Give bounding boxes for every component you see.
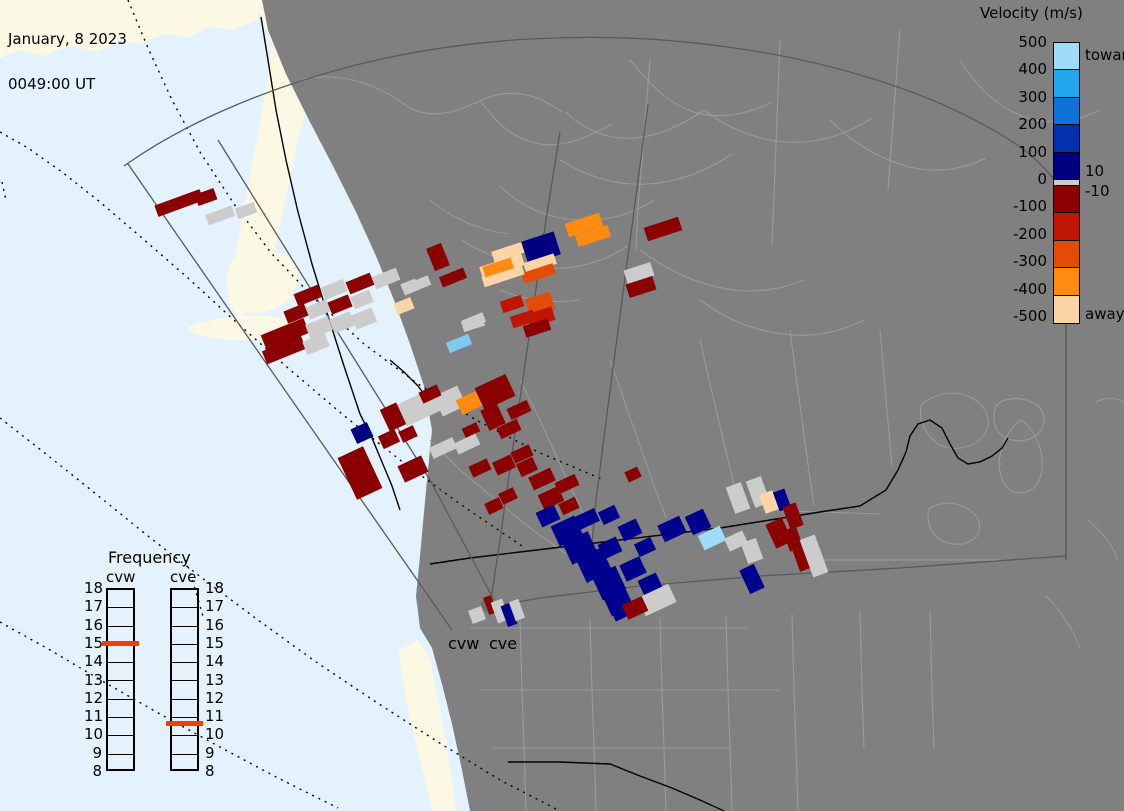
frequency-cell xyxy=(108,700,133,718)
frequency-tick-9: 9 xyxy=(84,746,102,761)
colorbar-band-10 xyxy=(1054,296,1079,323)
velocity-cell xyxy=(393,297,414,315)
frequency-cell xyxy=(108,663,133,681)
colorbar-tick-500: 500 xyxy=(1018,35,1047,50)
frequency-tick-14: 14 xyxy=(205,654,224,669)
frequency-scale-cvw xyxy=(106,588,135,771)
colorbar-tick--100: -100 xyxy=(1013,199,1047,214)
frequency-tick-8: 8 xyxy=(205,764,215,779)
velocity-cell xyxy=(685,509,712,536)
velocity-cell xyxy=(598,505,620,525)
velocity-cell xyxy=(378,429,400,449)
colorbar-tick-100: 100 xyxy=(1018,145,1047,160)
velocity-cell xyxy=(397,455,428,482)
colorbar-band-0 xyxy=(1054,43,1079,70)
frequency-cell xyxy=(172,755,197,773)
frequency-tick-18: 18 xyxy=(84,581,102,596)
velocity-cell xyxy=(468,606,486,624)
colorbar-band-6 xyxy=(1054,186,1079,213)
velocity-cell xyxy=(283,303,308,323)
frequency-tick-13: 13 xyxy=(205,673,224,688)
colorbar-band-2 xyxy=(1054,98,1079,125)
colorbar-tick--200: -200 xyxy=(1013,227,1047,242)
colorbar-upper-threshold-label: 10 xyxy=(1085,164,1104,179)
frequency-legend: Frequency cvw cve 18171615141312111098 1… xyxy=(88,548,238,788)
velocity-cell xyxy=(351,307,377,329)
velocity-cell xyxy=(346,273,375,295)
velocity-cell xyxy=(783,526,804,551)
frequency-cell xyxy=(108,718,133,736)
frequency-cell xyxy=(172,681,197,699)
velocity-cell xyxy=(618,519,643,542)
frequency-cell xyxy=(172,645,197,663)
velocity-cell xyxy=(426,243,450,271)
colorbar-gradient xyxy=(1053,42,1080,324)
frequency-cell xyxy=(108,590,133,608)
frequency-tick-8: 8 xyxy=(84,764,102,779)
timestamp-time: 0049:00 UT xyxy=(8,77,127,92)
colorbar-band-7 xyxy=(1054,213,1079,240)
velocity-cell xyxy=(338,446,383,500)
frequency-tick-14: 14 xyxy=(84,654,102,669)
frequency-tick-16: 16 xyxy=(205,618,224,633)
frequency-tick-15: 15 xyxy=(84,636,102,651)
frequency-cell xyxy=(108,736,133,754)
frequency-tick-18: 18 xyxy=(205,581,224,596)
velocity-cell xyxy=(634,537,656,557)
velocity-cell xyxy=(468,458,491,477)
frequency-tick-16: 16 xyxy=(84,618,102,633)
frequency-cell xyxy=(172,700,197,718)
frequency-tick-9: 9 xyxy=(205,746,215,761)
velocity-colorbar: Velocity (m/s) 5004003002001000-100-200-… xyxy=(975,4,1124,334)
frequency-cell xyxy=(108,645,133,663)
velocity-cell xyxy=(429,437,458,459)
velocity-cell xyxy=(619,556,647,582)
frequency-tick-17: 17 xyxy=(84,599,102,614)
radar-map-view: January, 8 2023 0049:00 UT Velocity (m/s… xyxy=(0,0,1124,811)
frequency-tick-10: 10 xyxy=(84,727,102,742)
velocity-cell xyxy=(350,422,373,444)
frequency-tick-10: 10 xyxy=(205,727,224,742)
radar-site-label-cve: cve xyxy=(489,634,517,653)
velocity-cell xyxy=(498,487,518,505)
velocity-cell xyxy=(624,467,641,483)
colorbar-away-label: away xyxy=(1085,307,1124,322)
frequency-cell xyxy=(172,608,197,626)
frequency-cell xyxy=(108,681,133,699)
velocity-cell xyxy=(657,516,686,542)
frequency-column-header-cve: cve xyxy=(170,568,196,586)
frequency-cell xyxy=(108,608,133,626)
frequency-tick-11: 11 xyxy=(84,709,102,724)
frequency-scale-cve xyxy=(170,588,199,771)
colorbar-band-8 xyxy=(1054,241,1079,268)
velocity-cell xyxy=(329,311,355,333)
frequency-tick-12: 12 xyxy=(205,691,224,706)
velocity-cell xyxy=(506,400,531,420)
frequency-column-header-cvw: cvw xyxy=(106,568,135,586)
colorbar-band-1 xyxy=(1054,70,1079,97)
velocity-cell xyxy=(644,217,683,241)
colorbar-tick--300: -300 xyxy=(1013,254,1047,269)
colorbar-band-3 xyxy=(1054,125,1079,152)
colorbar-tick--500: -500 xyxy=(1013,309,1047,324)
velocity-cell xyxy=(484,497,504,515)
colorbar-tick-400: 400 xyxy=(1018,62,1047,77)
colorbar-toward-label: toward xyxy=(1085,48,1124,63)
radar-site-label-cvw: cvw xyxy=(448,634,479,653)
colorbar-title: Velocity (m/s) xyxy=(980,4,1083,22)
frequency-cell xyxy=(108,755,133,773)
colorbar-band-4 xyxy=(1054,153,1079,180)
velocity-cell xyxy=(154,189,203,217)
velocity-cell xyxy=(235,202,258,219)
velocity-cell xyxy=(782,502,803,529)
velocity-cell xyxy=(398,425,418,443)
frequency-marker-cve xyxy=(166,721,203,726)
frequency-tick-13: 13 xyxy=(84,673,102,688)
frequency-cell xyxy=(172,736,197,754)
velocity-cell xyxy=(439,268,467,288)
colorbar-tick-0: 0 xyxy=(1037,172,1047,187)
colorbar-band-9 xyxy=(1054,268,1079,295)
velocity-cell xyxy=(372,268,401,290)
colorbar-tick--400: -400 xyxy=(1013,282,1047,297)
frequency-cell xyxy=(172,663,197,681)
velocity-cell xyxy=(446,334,472,353)
frequency-tick-11: 11 xyxy=(205,709,224,724)
frequency-marker-cvw xyxy=(102,641,139,646)
velocity-cell xyxy=(492,454,516,475)
frequency-tick-17: 17 xyxy=(205,599,224,614)
colorbar-tick-200: 200 xyxy=(1018,117,1047,132)
frequency-legend-title: Frequency xyxy=(108,548,191,567)
velocity-cell xyxy=(205,206,235,226)
velocity-cell xyxy=(739,564,764,594)
timestamp-date: January, 8 2023 xyxy=(8,32,127,47)
colorbar-lower-threshold-label: -10 xyxy=(1085,184,1110,199)
frequency-tick-15: 15 xyxy=(205,636,224,651)
velocity-cell xyxy=(554,474,579,494)
velocity-cell xyxy=(500,295,525,313)
frequency-cell xyxy=(172,627,197,645)
timestamp: January, 8 2023 0049:00 UT xyxy=(8,2,127,122)
velocity-cell xyxy=(726,482,751,514)
frequency-tick-12: 12 xyxy=(84,691,102,706)
frequency-cell xyxy=(172,590,197,608)
colorbar-tick-300: 300 xyxy=(1018,90,1047,105)
